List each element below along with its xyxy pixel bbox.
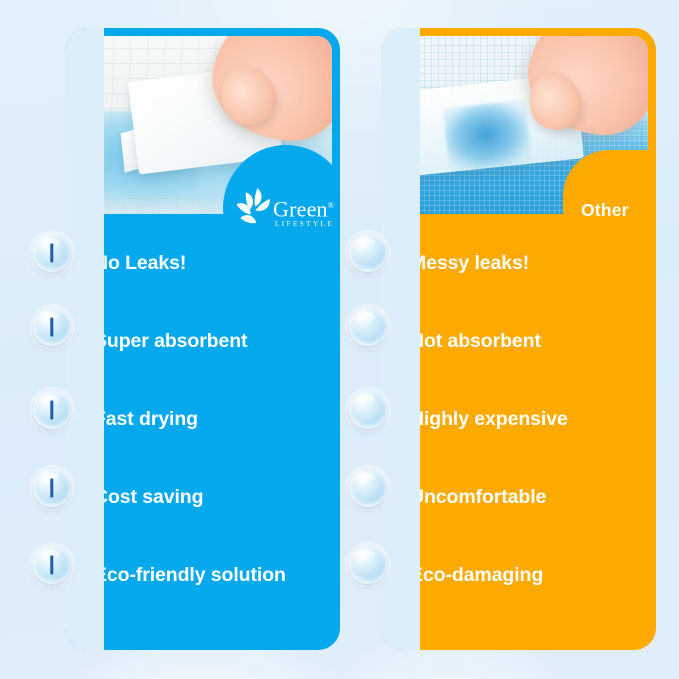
plus-badge xyxy=(33,469,71,507)
minus-badge xyxy=(349,469,387,507)
feature-label: Eco-damaging xyxy=(410,564,543,587)
feature-row: No Leaks! xyxy=(65,224,340,302)
green-lifestyle-feature-list: No Leaks! Super absorbent Fast drying Co… xyxy=(65,224,340,614)
feature-row: Messy leaks! xyxy=(381,224,656,302)
plus-badge xyxy=(33,546,71,584)
other-brand-feature-list: Messy leaks! Not absorbent Highly expens… xyxy=(381,224,656,614)
feature-label: Highly expensive xyxy=(410,408,568,431)
feature-label: Cost saving xyxy=(94,486,203,509)
other-label: Other xyxy=(581,200,629,221)
green-lifestyle-panel: Green® LIFESTYLE No Leaks! Super absorbe… xyxy=(65,28,340,650)
feature-label: Not absorbent xyxy=(410,330,541,353)
minus-badge xyxy=(349,546,387,584)
feature-row: Eco-friendly solution xyxy=(65,536,340,614)
leak-stain xyxy=(443,99,532,171)
plus-badge xyxy=(33,234,71,272)
feature-label: Eco-friendly solution xyxy=(94,564,286,587)
feature-label: Messy leaks! xyxy=(410,252,529,275)
feature-row: Super absorbent xyxy=(65,302,340,380)
plus-badge xyxy=(33,308,71,346)
feature-row: Fast drying xyxy=(65,380,340,458)
minus-badge xyxy=(349,234,387,272)
brand-name: Green® xyxy=(273,196,334,219)
feature-label: No Leaks! xyxy=(94,252,186,275)
feature-row: Uncomfortable xyxy=(381,458,656,536)
feature-label: Fast drying xyxy=(94,408,198,431)
feature-row: Highly expensive xyxy=(381,380,656,458)
feature-label: Uncomfortable xyxy=(410,486,546,509)
feature-label: Super absorbent xyxy=(94,330,247,353)
other-brand-panel: Other Messy leaks! Not absorbent Highly … xyxy=(381,28,656,650)
minus-badge xyxy=(349,391,387,429)
minus-badge xyxy=(349,308,387,346)
feature-row: Not absorbent xyxy=(381,302,656,380)
plus-badge xyxy=(33,391,71,429)
feature-row: Eco-damaging xyxy=(381,536,656,614)
trademark-symbol: ® xyxy=(328,201,334,210)
feature-row: Cost saving xyxy=(65,458,340,536)
comparison-infographic: Green® LIFESTYLE No Leaks! Super absorbe… xyxy=(0,0,679,679)
